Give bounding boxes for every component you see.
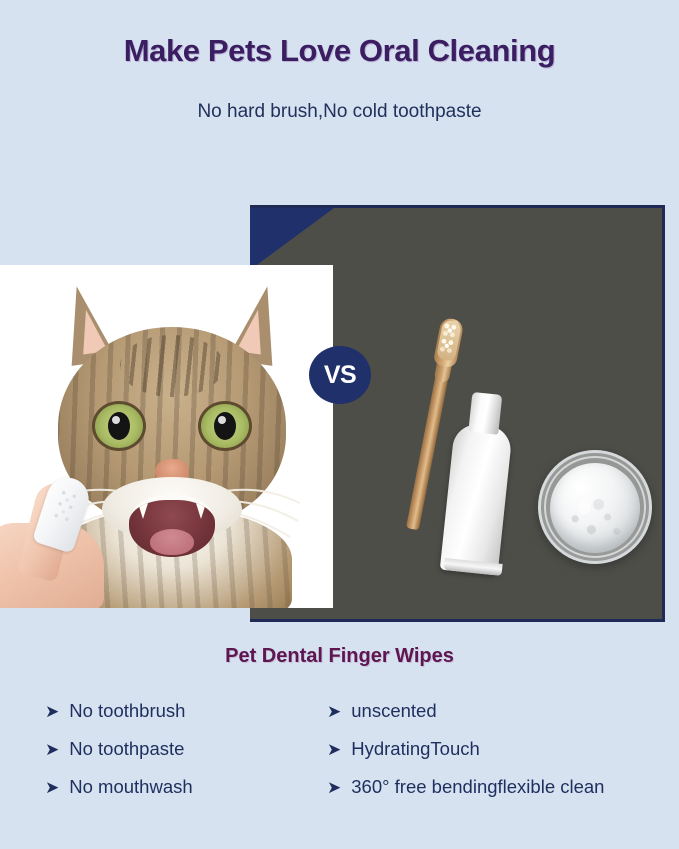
toothpaste-tube-cap [468, 392, 502, 435]
feature-item: ➤ HydratingTouch [327, 730, 672, 768]
feature-item: ➤ 360° free bendingflexible clean [327, 768, 672, 806]
arrow-right-triangle-icon: ➤ [327, 779, 341, 796]
arrow-right-triangle-icon: ➤ [45, 703, 59, 720]
corner-accent-triangle [250, 208, 334, 270]
feature-label: No toothbrush [69, 700, 185, 722]
infographic-page: Make Pets Love Oral Cleaning No hard bru… [0, 0, 679, 849]
arrow-right-triangle-icon: ➤ [45, 741, 59, 758]
arrow-right-triangle-icon: ➤ [45, 779, 59, 796]
feature-column-right: ➤ unscented ➤ HydratingTouch ➤ 360° free… [327, 692, 672, 806]
toothpaste-tube-seal [444, 558, 503, 576]
features-title: Pet Dental Finger Wipes [0, 645, 679, 668]
cat-forehead-stripes [120, 335, 224, 397]
features-section: Pet Dental Finger Wipes ➤ No toothbrush … [0, 630, 679, 849]
cat-fang-left [137, 500, 149, 519]
arrow-right-triangle-icon: ➤ [327, 703, 341, 720]
human-hand [0, 481, 134, 608]
feature-item: ➤ No toothbrush [45, 692, 335, 730]
jar-powder [550, 463, 640, 553]
cat-pupil-left [108, 412, 130, 440]
cat-tongue [150, 529, 194, 555]
feature-label: 360° free bendingflexible clean [351, 776, 604, 798]
feature-label: HydratingTouch [351, 738, 480, 760]
toothpaste-tube-body [440, 422, 513, 575]
cat-photo-panel [0, 265, 333, 608]
feature-item: ➤ No mouthwash [45, 768, 335, 806]
cat-open-mouth [129, 495, 215, 557]
arrow-right-triangle-icon: ➤ [327, 741, 341, 758]
feature-column-left: ➤ No toothbrush ➤ No toothpaste ➤ No mou… [45, 692, 335, 806]
vs-badge: VS [309, 346, 371, 404]
cat-pupil-right [214, 412, 236, 440]
toothpaste-tube-icon [436, 390, 520, 576]
feature-item: ➤ unscented [327, 692, 672, 730]
tooth-powder-jar-icon [538, 450, 652, 564]
cat-eye-left [92, 401, 146, 451]
feature-item: ➤ No toothpaste [45, 730, 335, 768]
feature-label: No toothpaste [69, 738, 184, 760]
feature-label: unscented [351, 700, 436, 722]
feature-label: No mouthwash [69, 776, 192, 798]
cat-fang-right [195, 500, 207, 519]
cat-eye-right [198, 401, 252, 451]
